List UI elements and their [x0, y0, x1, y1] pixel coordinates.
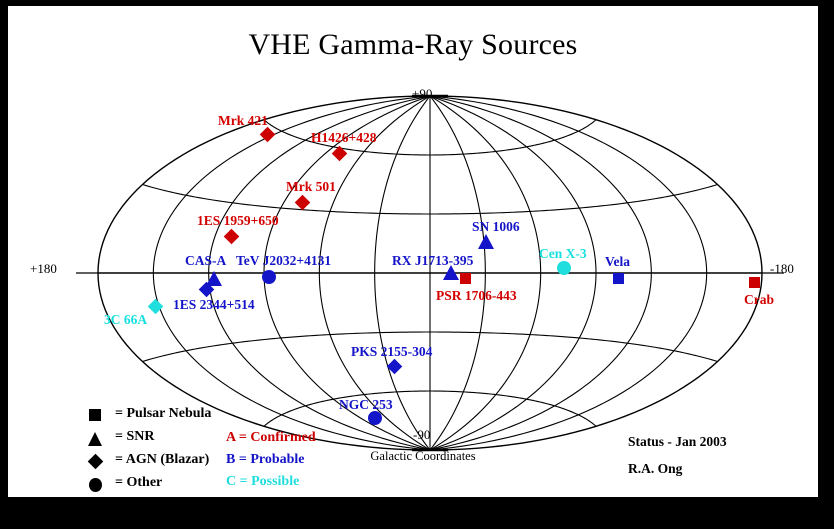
axis-label-left-longitude: +180 — [30, 261, 57, 277]
shape-legend-label: = SNR — [115, 429, 154, 445]
source-label: Mrk 501 — [286, 180, 336, 194]
source-label: PSR 1706-443 — [436, 289, 517, 303]
diamond-marker-icon — [88, 454, 104, 470]
source-marker-square — [749, 277, 760, 288]
axis-label-right-longitude: -180 — [770, 261, 794, 277]
source-label: 3C 66A — [104, 313, 147, 327]
source-marker-square — [460, 273, 471, 284]
source-marker-circle — [368, 411, 382, 425]
source-label: RX J1713-395 — [392, 254, 473, 268]
color-legend: A = ConfirmedB = ProbableC = Possible — [226, 430, 406, 496]
source-label: Crab — [744, 293, 774, 307]
source-label: Vela — [605, 255, 630, 269]
shape-legend-label: = Pulsar Nebula — [115, 406, 211, 422]
source-marker-triangle — [478, 234, 494, 249]
source-label: 1ES 2344+514 — [173, 298, 255, 312]
color-legend-row: B = Probable — [226, 452, 406, 474]
source-label: SN 1006 — [472, 220, 520, 234]
color-legend-row: C = Possible — [226, 474, 406, 496]
source-label: NGC 253 — [339, 398, 393, 412]
axis-label-south-pole: -90 — [413, 427, 430, 443]
square-marker-icon — [88, 408, 104, 424]
status-block: Status - Jan 2003 R.A. Ong — [628, 434, 808, 488]
source-label: H1426+428 — [311, 131, 376, 145]
source-label: PKS 2155-304 — [351, 345, 432, 359]
source-label: Mrk 421 — [218, 114, 268, 128]
status-author: R.A. Ong — [628, 461, 808, 477]
axis-label-north-pole: +90 — [412, 86, 432, 102]
color-legend-row: A = Confirmed — [226, 430, 406, 452]
shape-legend-label: = Other — [115, 475, 162, 491]
shape-legend-label: = AGN (Blazar) — [115, 452, 209, 468]
shape-legend-row: = Pulsar Nebula — [88, 404, 318, 427]
source-label: CAS-A — [185, 254, 226, 268]
status-date: Status - Jan 2003 — [628, 434, 808, 450]
slide-canvas: VHE Gamma-Ray Sources +90 -90 +180 -180 … — [8, 6, 818, 497]
slide-frame: VHE Gamma-Ray Sources +90 -90 +180 -180 … — [0, 0, 834, 529]
source-label: TeV J2032+4131 — [236, 254, 331, 268]
source-marker-circle — [262, 270, 276, 284]
source-label: Cen X-3 — [539, 247, 587, 261]
triangle-marker-icon — [88, 431, 104, 447]
source-marker-square — [613, 273, 624, 284]
circle-marker-icon — [88, 477, 104, 493]
source-label: 1ES 1959+650 — [197, 214, 279, 228]
source-marker-circle — [557, 261, 571, 275]
